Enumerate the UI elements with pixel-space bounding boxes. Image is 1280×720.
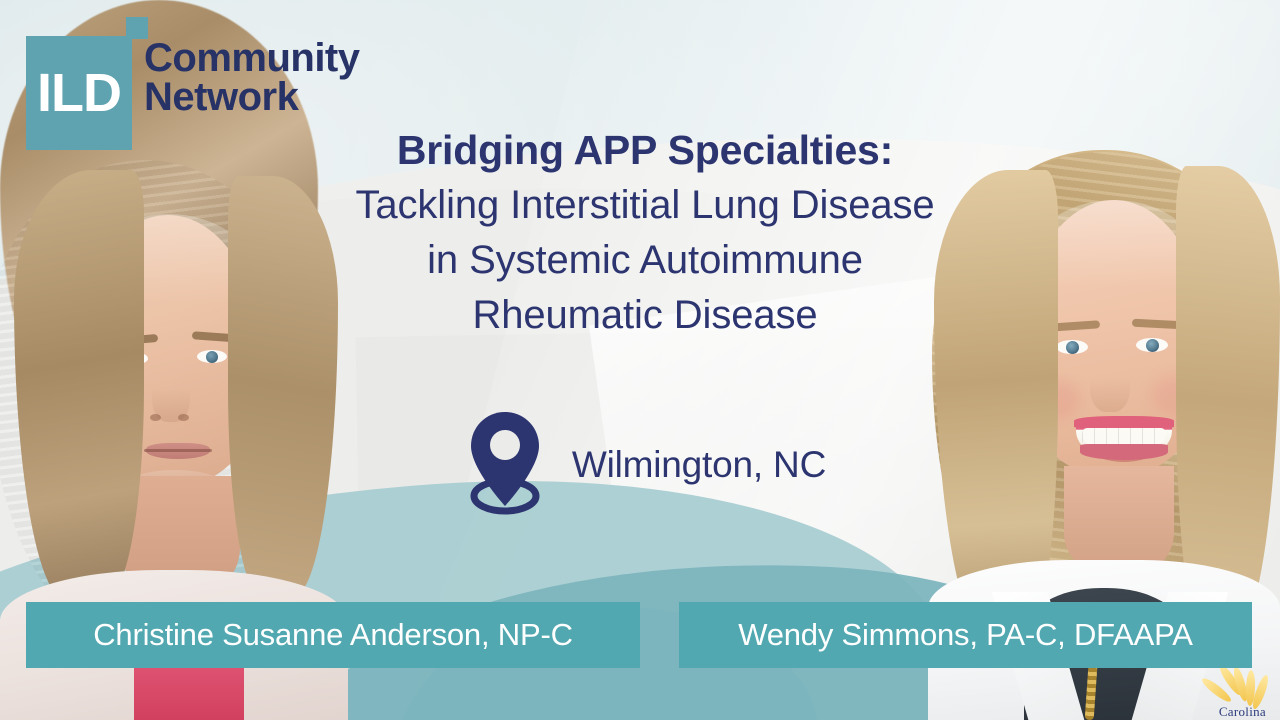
eye-right xyxy=(1136,338,1168,352)
nostril-right xyxy=(178,414,189,421)
page-subtitle-line2: in Systemic Autoimmune xyxy=(200,233,1090,288)
nostril-left xyxy=(150,414,161,421)
nose xyxy=(1090,354,1130,412)
page-subtitle-line1: Tackling Interstitial Lung Disease xyxy=(200,178,1090,233)
page-title: Bridging APP Specialties: xyxy=(200,128,1090,174)
lip-lower xyxy=(1080,444,1168,460)
iris xyxy=(1146,339,1159,352)
speaker-name-banner-left: Christine Susanne Anderson, NP-C xyxy=(26,602,640,668)
logo-wordmark-line2: Network xyxy=(144,78,360,117)
speaker-name-banner-right: Wendy Simmons, PA-C, DFAAPA xyxy=(679,602,1252,668)
iris xyxy=(206,351,218,363)
eye-right xyxy=(197,350,227,363)
location-label: Wilmington, NC xyxy=(572,444,826,486)
coat-badge-text: Carolina xyxy=(1219,704,1266,720)
logo-wordmark-line1: Community xyxy=(144,39,360,78)
page-subtitle-line3: Rheumatic Disease xyxy=(200,288,1090,343)
hair-front-left xyxy=(14,170,144,600)
logo-wordmark: Community Network xyxy=(144,39,360,117)
map-pin-icon xyxy=(464,410,546,520)
ild-community-network-logo: ILD Community Network xyxy=(26,17,376,137)
title-block: Bridging APP Specialties: Tackling Inter… xyxy=(200,128,1090,343)
page-subtitle: Tackling Interstitial Lung Disease in Sy… xyxy=(200,178,1090,344)
location-row: Wilmington, NC xyxy=(200,410,1090,520)
logo-mark-text: ILD xyxy=(26,36,132,150)
title-card: Carolina ILD Community Network Bridging … xyxy=(0,0,1280,720)
